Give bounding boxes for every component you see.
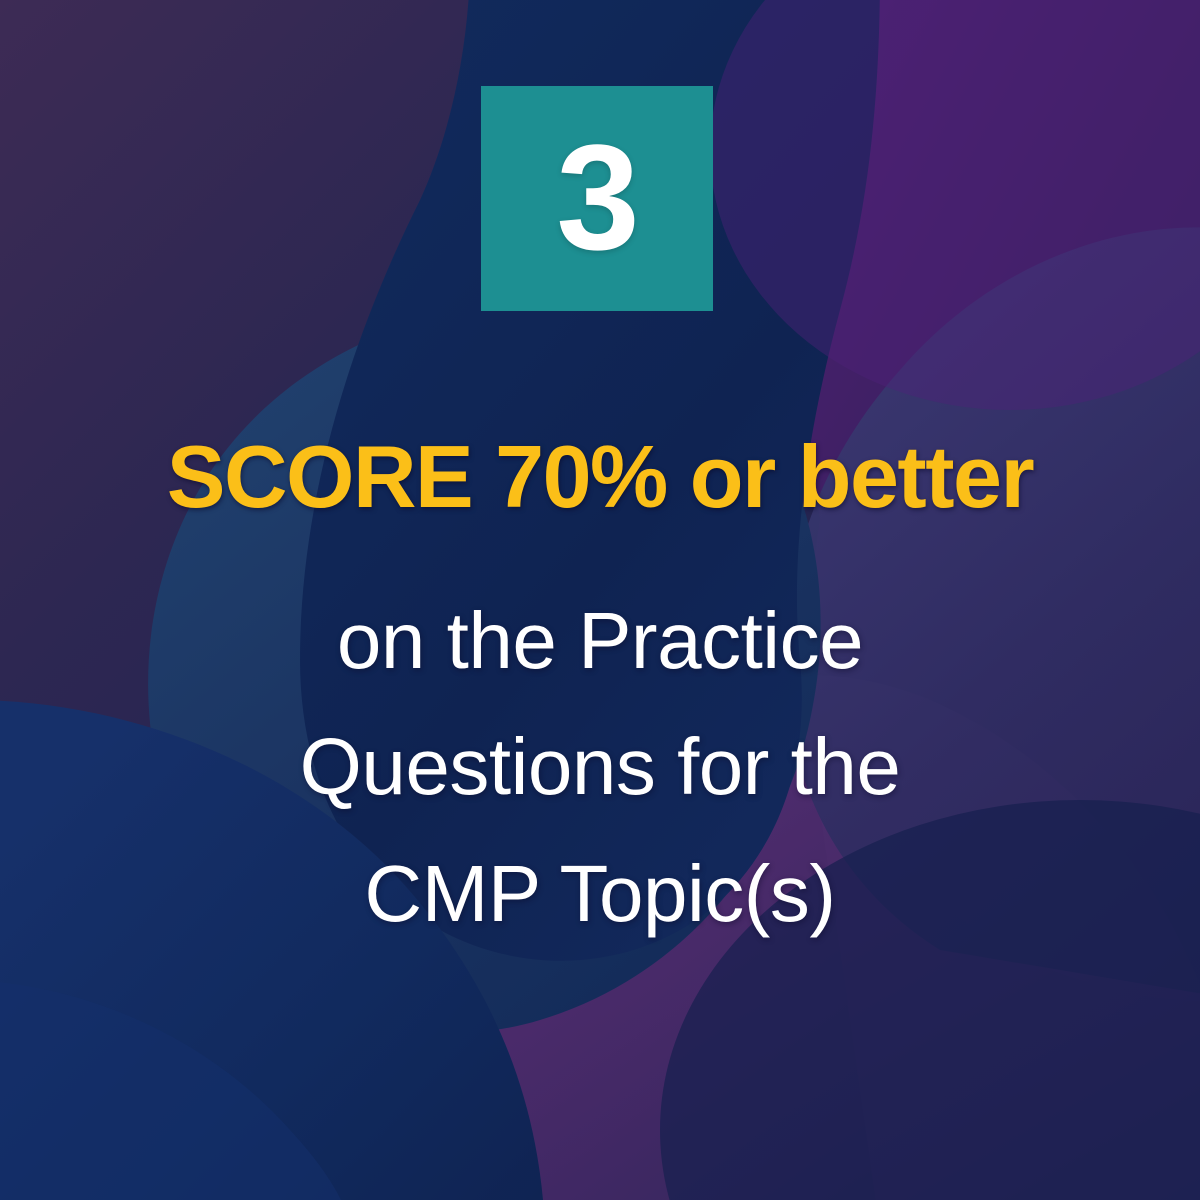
subheading-container: on the Practice Questions for the CMP To… bbox=[0, 578, 1200, 957]
social-graphic-canvas: 3 SCORE 70% or better on the Practice Qu… bbox=[0, 0, 1200, 1200]
step-number-text: 3 bbox=[556, 122, 637, 272]
headline-text: SCORE 70% or better bbox=[167, 430, 1033, 523]
subheading-line-2: Questions for the bbox=[0, 704, 1200, 830]
subheading-line-1: on the Practice bbox=[0, 578, 1200, 704]
content-layer: 3 SCORE 70% or better on the Practice Qu… bbox=[0, 0, 1200, 1200]
headline-container: SCORE 70% or better bbox=[0, 430, 1200, 523]
step-number-badge: 3 bbox=[481, 86, 713, 311]
subheading-line-3: CMP Topic(s) bbox=[0, 831, 1200, 957]
